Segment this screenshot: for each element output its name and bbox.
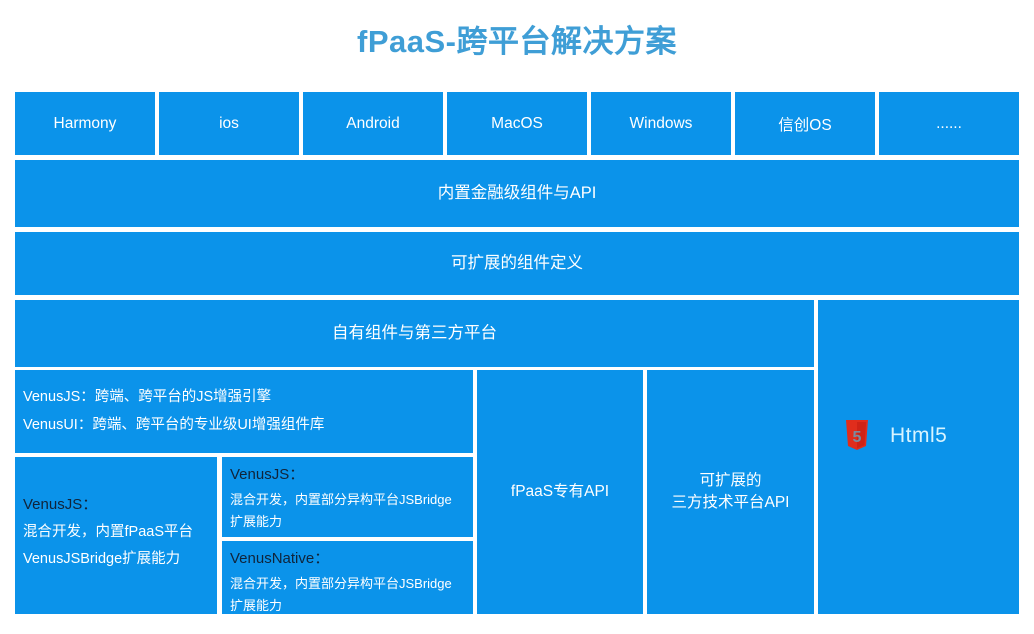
fpaas-proprietary-api-panel[interactable]: fPaaS专有API: [477, 370, 643, 614]
band-label: 内置金融级组件与API: [438, 182, 597, 206]
os-label: Harmony: [54, 115, 117, 133]
venus-native-line1: 混合开发，内置部分异构平台JSBridge: [230, 573, 467, 595]
venus-ui-key: VenusUI：: [23, 417, 92, 433]
third-party-api-line2: 三方技术平台API: [672, 492, 790, 514]
venus-native-panel[interactable]: VenusNative： 混合开发，内置部分异构平台JSBridge 扩展能力: [222, 541, 473, 614]
venus-native-line2: 扩展能力: [230, 595, 467, 614]
svg-text:5: 5: [853, 429, 862, 446]
band-label: 自有组件与第三方平台: [332, 322, 497, 346]
html5-label: Html5: [890, 424, 947, 448]
venus-js-hybrid-line2: VenusJSBridge扩展能力: [23, 546, 211, 574]
os-label: MacOS: [491, 115, 543, 133]
os-cell-xinchuang-os[interactable]: 信创OS: [735, 92, 875, 155]
os-cell-more[interactable]: ......: [879, 92, 1019, 155]
os-cell-windows[interactable]: Windows: [591, 92, 731, 155]
third-party-api-panel[interactable]: 可扩展的 三方技术平台API: [647, 370, 814, 614]
os-label: Android: [346, 115, 399, 133]
venus-js-het-key: VenusJS：: [230, 461, 467, 489]
fpaas-api-label: fPaaS专有API: [511, 481, 609, 503]
venus-ui-line: VenusUI：跨端、跨平台的专业级UI增强组件库: [23, 412, 467, 440]
os-cell-ios[interactable]: ios: [159, 92, 299, 155]
venus-native-key: VenusNative：: [230, 545, 467, 573]
diagram-canvas: fPaaS-跨平台解决方案 Harmony ios Android MacOS …: [0, 0, 1034, 634]
venus-js-hybrid-panel[interactable]: VenusJS： 混合开发，内置fPaaS平台 VenusJSBridge扩展能…: [15, 457, 217, 614]
venus-js-hybrid-key: VenusJS：: [23, 491, 211, 519]
band-label: 可扩展的组件定义: [451, 252, 583, 276]
band-extensible-component-definition[interactable]: 可扩展的组件定义: [15, 232, 1019, 295]
os-label: 信创OS: [778, 113, 831, 135]
os-platform-row: Harmony ios Android MacOS Windows 信创OS .…: [15, 92, 1019, 155]
os-label: Windows: [630, 115, 693, 133]
html5-content: 5 Html5: [844, 420, 947, 451]
band-own-and-third-party-platform[interactable]: 自有组件与第三方平台: [15, 300, 814, 367]
venus-ui-value: 跨端、跨平台的专业级UI增强组件库: [92, 417, 324, 433]
html5-shield-icon: 5: [844, 420, 870, 451]
os-label: ios: [219, 115, 239, 133]
os-cell-android[interactable]: Android: [303, 92, 443, 155]
venus-js-heterogeneous-panel[interactable]: VenusJS： 混合开发，内置部分异构平台JSBridge 扩展能力: [222, 457, 473, 537]
third-party-api-line1: 可扩展的: [699, 470, 761, 492]
venus-js-hybrid-line1: 混合开发，内置fPaaS平台: [23, 519, 211, 547]
venus-js-value: 跨端、跨平台的JS增强引擎: [95, 389, 271, 405]
venus-js-key: VenusJS：: [23, 389, 95, 405]
page-title: fPaaS-跨平台解决方案: [0, 16, 1034, 61]
venus-top-panel[interactable]: VenusJS：跨端、跨平台的JS增强引擎 VenusUI：跨端、跨平台的专业级…: [15, 370, 473, 453]
venus-js-line: VenusJS：跨端、跨平台的JS增强引擎: [23, 384, 467, 412]
os-label: ......: [936, 115, 962, 133]
html5-panel[interactable]: 5 Html5: [818, 300, 1019, 614]
venus-js-het-line2: 扩展能力: [230, 511, 467, 533]
venus-js-het-line1: 混合开发，内置部分异构平台JSBridge: [230, 489, 467, 511]
os-cell-macos[interactable]: MacOS: [447, 92, 587, 155]
os-cell-harmony[interactable]: Harmony: [15, 92, 155, 155]
band-financial-components-api[interactable]: 内置金融级组件与API: [15, 160, 1019, 227]
